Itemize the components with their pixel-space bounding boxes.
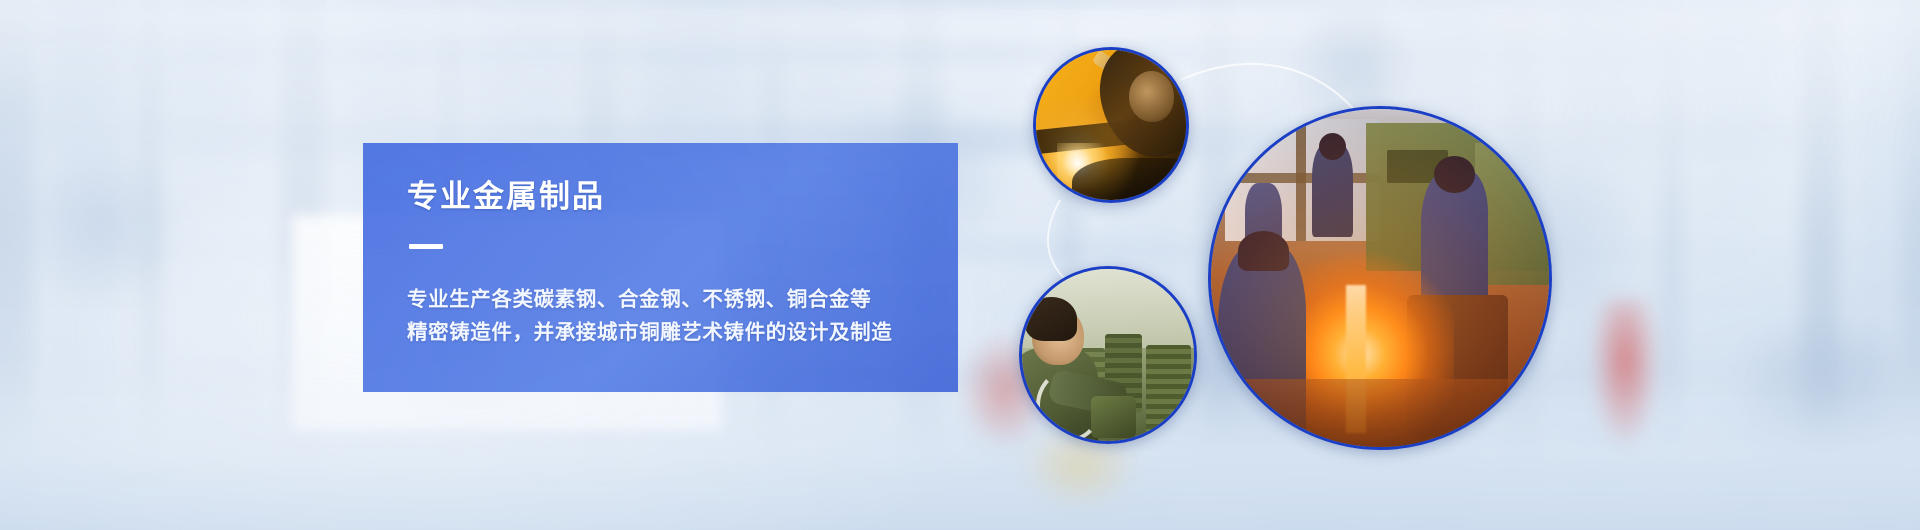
- background-red-accent: [1590, 300, 1660, 450]
- banner-title: 专业金属制品: [407, 181, 958, 212]
- banner-description-line-2: 精密铸造件，并承接城市铜雕艺术铸件的设计及制造: [407, 316, 958, 349]
- background-yellow-accent: [1020, 420, 1140, 510]
- hero-banner: 专业金属制品 专业生产各类碳素钢、合金钢、不锈钢、铜合金等 精密铸造件，并承接城…: [0, 0, 1920, 530]
- banner-description: 专业生产各类碳素钢、合金钢、不锈钢、铜合金等 精密铸造件，并承接城市铜雕艺术铸件…: [407, 283, 958, 349]
- banner-description-line-1: 专业生产各类碳素钢、合金钢、不锈钢、铜合金等: [407, 283, 958, 316]
- background-sheen: [0, 0, 1920, 530]
- promo-text-panel: 专业金属制品 专业生产各类碳素钢、合金钢、不锈钢、铜合金等 精密铸造件，并承接城…: [363, 143, 958, 392]
- title-divider: [409, 244, 443, 249]
- banner-background-image: [0, 0, 1920, 530]
